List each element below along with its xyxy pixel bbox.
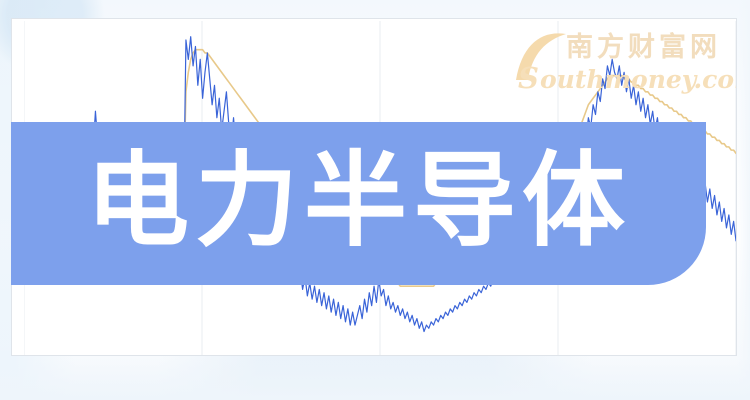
page-title: 电力半导体 <box>86 150 631 253</box>
banner-image: 南方财富网 S outhmoney.com 电力半导体 <box>0 0 750 400</box>
title-banner-textwrap: 电力半导体 <box>11 122 706 285</box>
right-edge-fade <box>737 0 750 400</box>
bottom-edge-fade <box>0 358 750 400</box>
